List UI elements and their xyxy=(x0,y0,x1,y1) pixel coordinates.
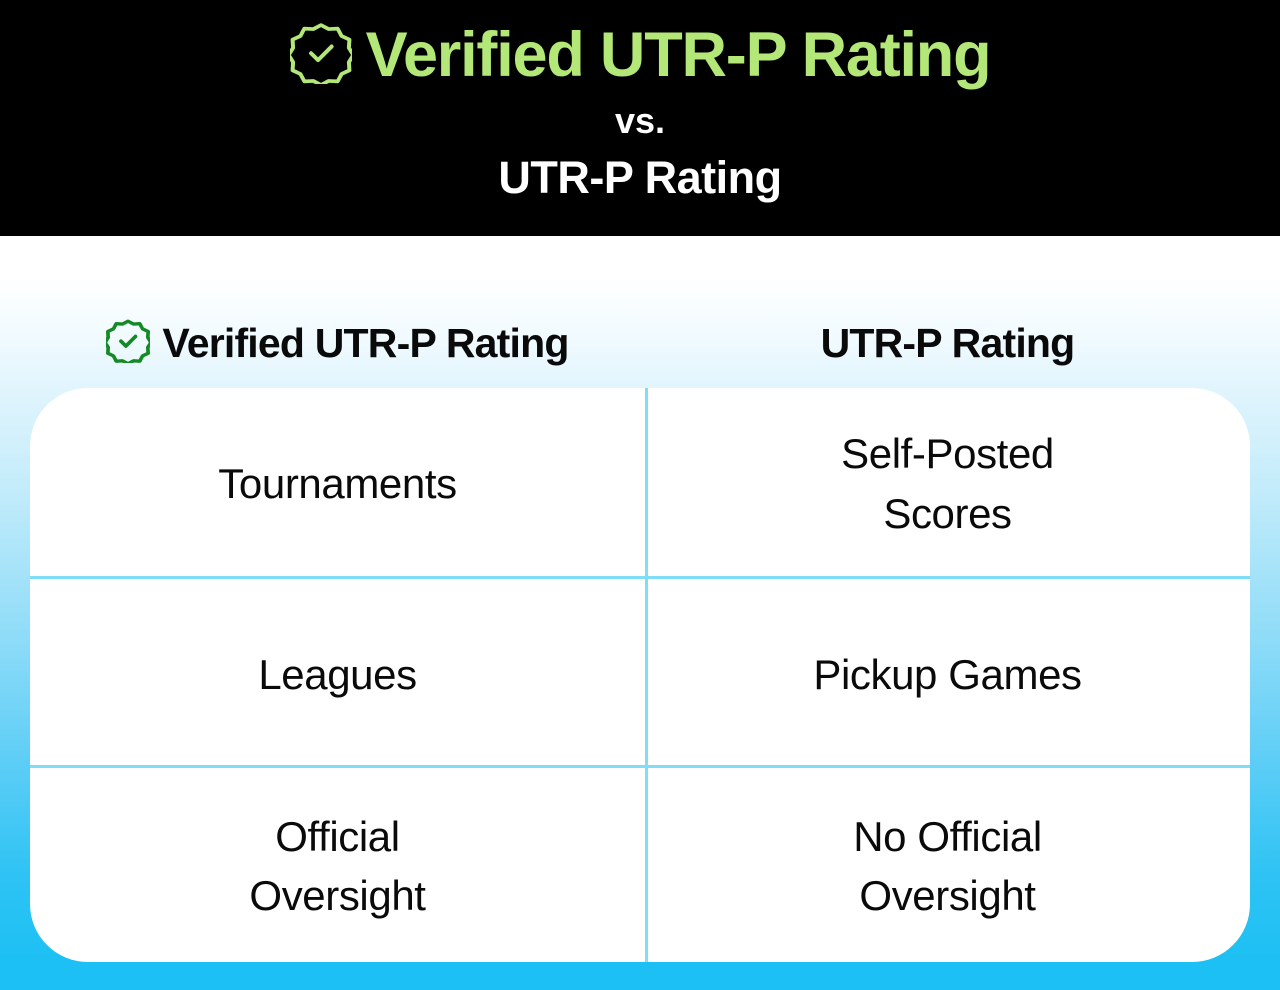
comparison-infographic: Verified UTR-P Rating vs. UTR-P Rating V… xyxy=(0,0,1280,990)
table-cell-unverified-3: No Official Oversight xyxy=(645,771,1250,962)
column-divider xyxy=(645,388,648,962)
table-cell-verified-1: Tournaments xyxy=(30,388,645,579)
column-header-label: Verified UTR-P Rating xyxy=(162,320,568,367)
header-title: Verified UTR-P Rating xyxy=(366,22,991,88)
cell-label: Tournaments xyxy=(218,454,456,514)
column-header-label: UTR-P Rating xyxy=(821,320,1075,367)
column-header-verified: Verified UTR-P Rating xyxy=(30,298,645,388)
cell-label: No Official Oversight xyxy=(853,807,1042,926)
cell-label: Official Oversight xyxy=(249,807,425,926)
row-divider-2 xyxy=(30,765,1250,768)
table-cell-verified-3: Official Oversight xyxy=(30,771,645,962)
cell-label: Pickup Games xyxy=(813,645,1081,705)
column-header-unverified: UTR-P Rating xyxy=(645,298,1250,388)
cell-label: Self-Posted Scores xyxy=(841,424,1054,543)
header-title-row: Verified UTR-P Rating xyxy=(290,22,991,89)
cell-label: Leagues xyxy=(258,645,416,705)
comparison-grid: Tournaments Self-Posted Scores Leagues P… xyxy=(30,388,1250,962)
header-vs-label: vs. xyxy=(615,101,665,141)
header-subtitle: UTR-P Rating xyxy=(498,153,781,203)
verified-badge-icon xyxy=(106,319,150,368)
table-cell-verified-2: Leagues xyxy=(30,579,645,770)
column-headers: Verified UTR-P Rating UTR-P Rating xyxy=(30,298,1250,388)
comparison-section: Verified UTR-P Rating UTR-P Rating Tourn… xyxy=(0,236,1280,990)
verified-badge-icon xyxy=(290,22,352,89)
row-divider-1 xyxy=(30,576,1250,579)
header-banner: Verified UTR-P Rating vs. UTR-P Rating xyxy=(0,0,1280,236)
table-cell-unverified-2: Pickup Games xyxy=(645,579,1250,770)
table-cell-unverified-1: Self-Posted Scores xyxy=(645,388,1250,579)
comparison-card: Tournaments Self-Posted Scores Leagues P… xyxy=(30,388,1250,962)
